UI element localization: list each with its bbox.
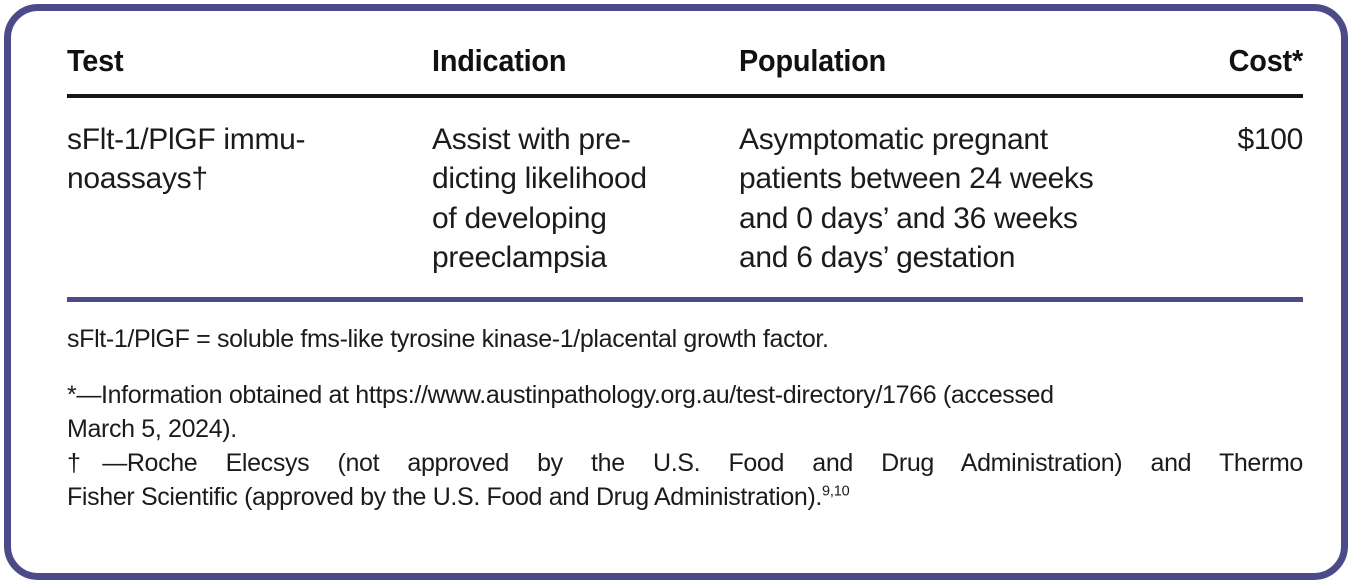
table-body: sFlt-1/PlGF immu- noassays† Assist with …: [67, 96, 1303, 300]
cell-population: Asymptomatic pregnant patients between 2…: [739, 96, 1139, 300]
cell-cost: $100: [1139, 96, 1303, 300]
reference-superscript: 9,10: [822, 484, 849, 500]
cell-population-line: patients between 24 weeks: [739, 159, 1139, 198]
table-row: sFlt-1/PlGF immu- noassays† Assist with …: [67, 96, 1303, 300]
column-header-indication: Indication: [432, 45, 718, 96]
rounded-frame-border: Test Indication Population Cost* sFlt-1/…: [4, 4, 1348, 580]
footnote-dagger-line: †—Roche Elecsys (not approved by the U.S…: [67, 446, 1303, 480]
cell-test-line: sFlt-1/PlGF immu-: [67, 120, 432, 159]
footnote-asterisk-line: March 5, 2024).: [67, 412, 1303, 446]
cell-population-line: and 0 days’ and 36 weeks: [739, 199, 1139, 238]
column-header-cost: Cost*: [1150, 45, 1303, 96]
cell-test-line: noassays†: [67, 159, 432, 198]
table-header-row: Test Indication Population Cost*: [67, 45, 1303, 96]
footnote-dagger-line-last: Fisher Scientific (approved by the U.S. …: [67, 480, 1303, 514]
cell-indication: Assist with pre- dicting likelihood of d…: [432, 96, 739, 300]
cell-population-line: and 6 days’ gestation: [739, 238, 1139, 277]
column-header-population: Population: [739, 45, 1111, 96]
comparison-table: Test Indication Population Cost* sFlt-1/…: [67, 45, 1303, 302]
cell-indication-line: preeclampsia: [432, 238, 739, 277]
footnote-dagger-text: Fisher Scientific (approved by the U.S. …: [67, 483, 822, 511]
cell-indication-line: Assist with pre-: [432, 120, 739, 159]
table-figure: Test Indication Population Cost* sFlt-1/…: [0, 0, 1352, 584]
footnote-abbreviation: sFlt-1/PlGF = soluble fms-like tyrosine …: [67, 322, 1303, 356]
cell-test: sFlt-1/PlGF immu- noassays†: [67, 96, 432, 300]
column-header-test: Test: [67, 45, 406, 96]
footnote-dagger: †—Roche Elecsys (not approved by the U.S…: [67, 446, 1303, 514]
cell-indication-line: of developing: [432, 199, 739, 238]
frame-content: Test Indication Population Cost* sFlt-1/…: [67, 45, 1303, 514]
footnotes: sFlt-1/PlGF = soluble fms-like tyrosine …: [67, 322, 1303, 514]
footnote-asterisk: *—Information obtained at https://www.au…: [67, 378, 1303, 446]
cell-indication-line: dicting likelihood: [432, 159, 739, 198]
table-header: Test Indication Population Cost*: [67, 45, 1303, 96]
cell-population-line: Asymptomatic pregnant: [739, 120, 1139, 159]
footnote-asterisk-line: *—Information obtained at https://www.au…: [67, 378, 1303, 412]
